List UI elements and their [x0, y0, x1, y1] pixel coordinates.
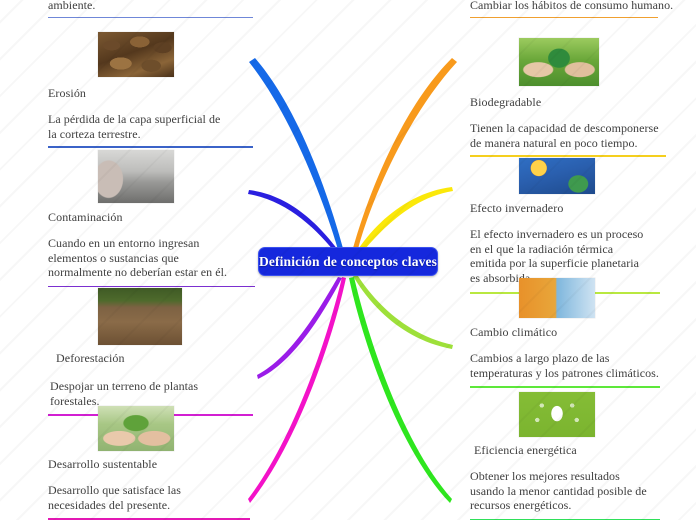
desarrollo-sustentable-thumbnail — [98, 406, 174, 451]
branch-habitos-consumo — [352, 58, 457, 253]
biodegradable-thumbnail — [519, 38, 599, 86]
contaminacion-title: Contaminación — [48, 210, 258, 224]
efecto-invernadero-title: Efecto invernadero — [470, 201, 680, 215]
top-fragment-line — [48, 17, 253, 19]
node-contaminacion[interactable]: Contaminación Cuando en un entorno ingre… — [48, 150, 258, 287]
deforestacion-title: Deforestación — [56, 351, 263, 365]
node-efecto-invernadero[interactable]: Efecto invernadero El efecto invernadero… — [470, 158, 680, 294]
node-cambio-climatico[interactable]: Cambio climático Cambios a largo plazo d… — [470, 278, 680, 388]
deforestacion-thumbnail — [98, 288, 182, 345]
branch-erosion — [249, 58, 344, 253]
central-topic-node[interactable]: Definición de conceptos claves — [258, 247, 438, 276]
biodegradable-description: Tienen la capacidad de descomponerse de … — [470, 121, 660, 150]
desarrollo-sustentable-title: Desarrollo sustentable — [48, 457, 263, 471]
node-deforestacion[interactable]: Deforestación Despojar un terreno de pla… — [48, 288, 263, 416]
erosion-thumbnail — [98, 32, 174, 77]
habitos-consumo-description: Cambiar los hábitos de consumo humano. — [470, 0, 675, 13]
cambio-climatico-line — [470, 386, 660, 388]
efecto-invernadero-description: El efecto invernadero es un proceso en e… — [470, 227, 650, 285]
biodegradable-title: Biodegradable — [470, 95, 680, 109]
eficiencia-energetica-title: Eficiencia energética — [474, 443, 682, 457]
eficiencia-energetica-thumbnail — [519, 392, 595, 437]
eficiencia-energetica-description: Obtener los mejores resultados usando la… — [470, 469, 656, 513]
desarrollo-sustentable-description: Desarrollo que satisface las necesidades… — [48, 483, 236, 512]
branch-biodegradable — [355, 187, 453, 255]
cambio-climatico-thumbnail — [519, 278, 595, 318]
node-biodegradable[interactable]: Biodegradable Tienen la capacidad de des… — [470, 38, 680, 157]
efecto-invernadero-thumbnail — [519, 158, 595, 194]
contaminacion-description: Cuando en un entorno ingresan elementos … — [48, 236, 233, 280]
cambio-climatico-title: Cambio climático — [470, 325, 680, 339]
deforestacion-description: Despojar un terreno de plantas forestale… — [50, 379, 250, 408]
node-habitos-consumo[interactable]: Cambiar los hábitos de consumo humano. — [470, 0, 675, 18]
erosion-line — [48, 146, 253, 148]
habitos-consumo-line — [470, 17, 658, 19]
top-fragment-text: ambiente. — [48, 0, 258, 13]
node-top-fragment: ambiente. — [48, 0, 258, 18]
contaminacion-thumbnail — [98, 150, 174, 203]
node-erosion[interactable]: Erosión La pérdida de la capa superficia… — [48, 32, 256, 148]
cambio-climatico-description: Cambios a largo plazo de las temperatura… — [470, 351, 660, 380]
biodegradable-line — [470, 155, 666, 157]
erosion-title: Erosión — [48, 86, 256, 100]
central-topic-label: Definición de conceptos claves — [259, 254, 437, 270]
branch-cambio-climatico — [349, 277, 452, 503]
node-desarrollo-sustentable[interactable]: Desarrollo sustentable Desarrollo que sa… — [48, 406, 263, 520]
erosion-description: La pérdida de la capa superficial de la … — [48, 112, 228, 141]
node-eficiencia-energetica[interactable]: Eficiencia energética Obtener los mejore… — [470, 392, 682, 520]
